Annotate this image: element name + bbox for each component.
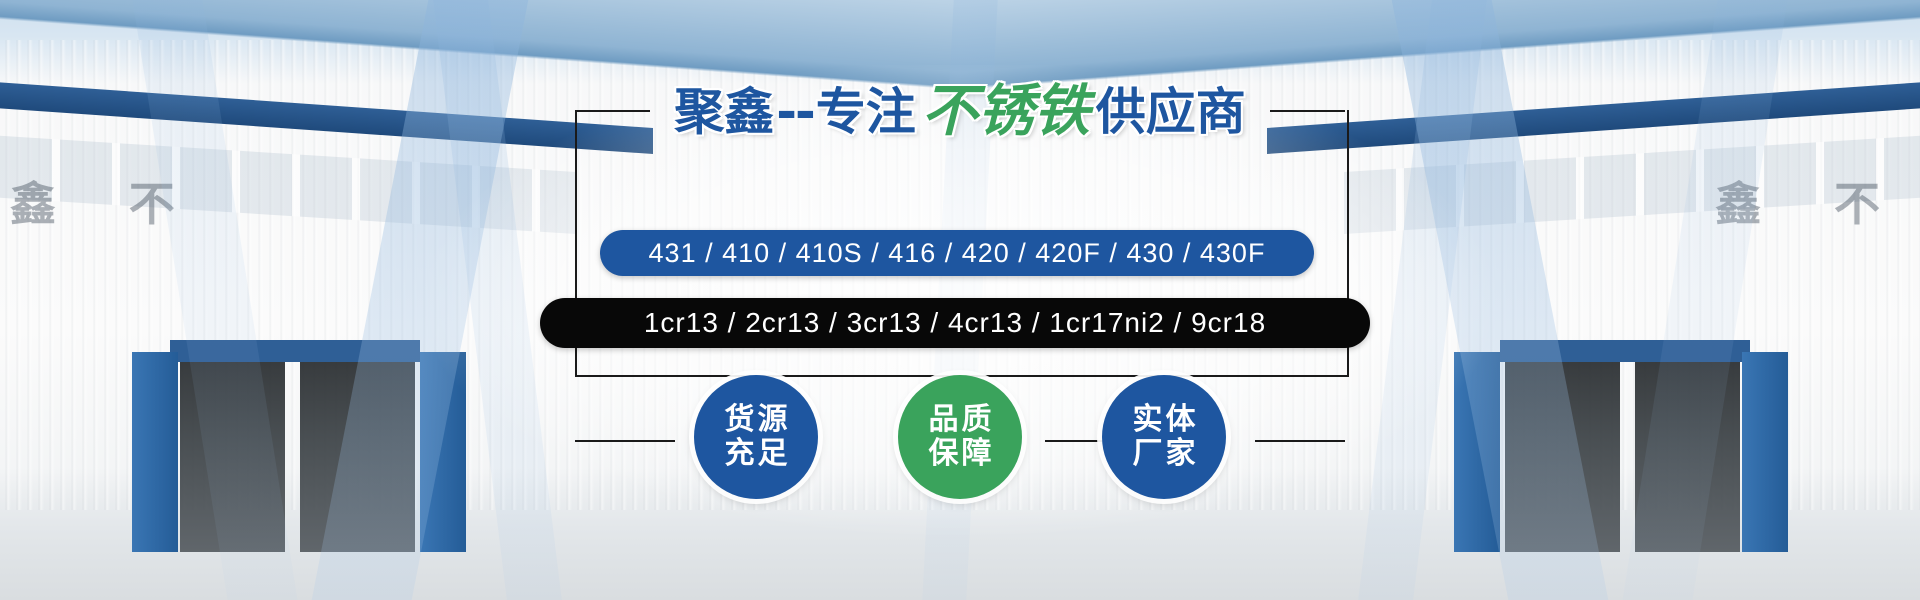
- feature-circle-quality[interactable]: 品质 保障: [898, 375, 1022, 499]
- feature-supply-line2: 充足: [722, 437, 791, 471]
- doorway-header-left: [170, 340, 420, 362]
- headline-brand: 聚鑫: [674, 87, 774, 137]
- grade-bar-primary: 431 / 410 / 410S / 416 / 420 / 420F / 43…: [600, 230, 1314, 276]
- feature-factory-line1: 实体: [1130, 403, 1199, 437]
- feature-circle-group: 货源 充足 品质 保障 实体 厂家: [0, 375, 1920, 499]
- feature-supply-line1: 货源: [722, 403, 791, 437]
- feature-quality-line1: 品质: [926, 403, 995, 437]
- banner-headline: 聚鑫--专注不锈铁供应商: [0, 83, 1920, 140]
- wall-signage-right: 鑫 不: [1715, 168, 1910, 234]
- headline-dashes: --: [774, 87, 816, 137]
- feature-factory-line2: 厂家: [1130, 437, 1199, 471]
- headline-focus: 专注: [816, 87, 916, 137]
- feature-quality-line2: 保障: [926, 437, 995, 471]
- wall-signage-left: 鑫 不: [10, 168, 205, 234]
- headline-highlight: 不锈铁: [916, 84, 1096, 140]
- headline-supplier: 供应商: [1096, 87, 1246, 137]
- feature-circle-factory[interactable]: 实体 厂家: [1102, 375, 1226, 499]
- doorway-header-right: [1500, 340, 1750, 362]
- promo-banner: 鑫 不 鑫 不 聚鑫--专注不锈铁供应商 431 / 410 / 410S / …: [0, 0, 1920, 600]
- grade-bar-secondary: 1cr13 / 2cr13 / 3cr13 / 4cr13 / 1cr17ni2…: [540, 298, 1370, 348]
- feature-circle-supply[interactable]: 货源 充足: [694, 375, 818, 499]
